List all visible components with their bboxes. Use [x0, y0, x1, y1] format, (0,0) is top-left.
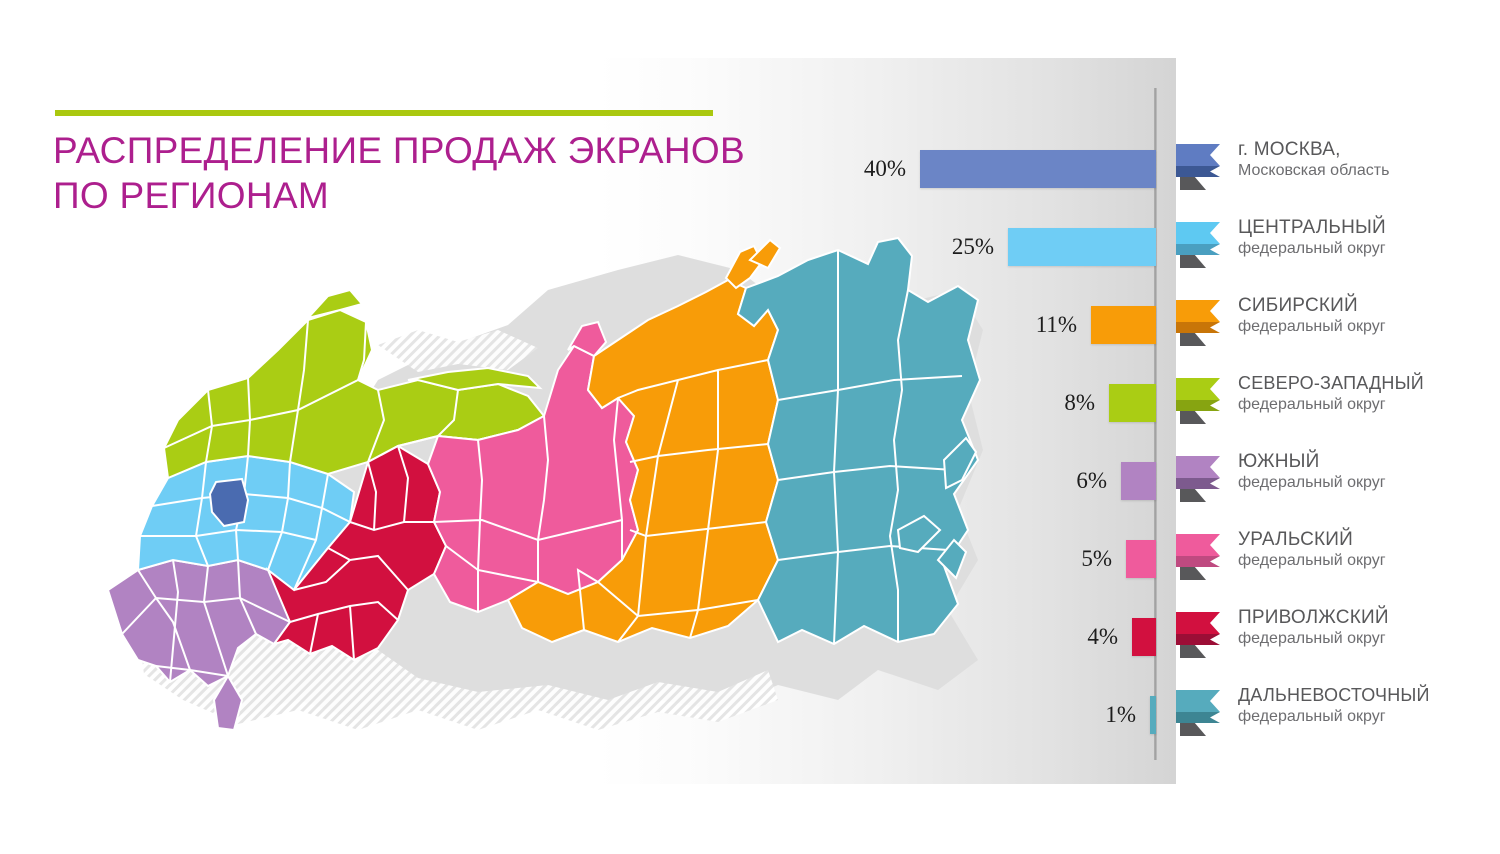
legend-district-name: ЮЖНЫЙ [1238, 450, 1496, 473]
chart-bar [920, 150, 1156, 188]
legend-ribbon-icon [1176, 300, 1230, 348]
legend-district-subtitle: федеральный округ [1238, 395, 1496, 415]
legend-district-subtitle: федеральный округ [1238, 317, 1496, 337]
legend-label-group: СИБИРСКИЙфедеральный округ [1238, 294, 1496, 337]
legend-district-subtitle: Московская область [1238, 161, 1496, 181]
legend-label-group: ПРИВОЛЖСКИЙфедеральный округ [1238, 606, 1496, 649]
legend-district-subtitle: федеральный округ [1238, 551, 1496, 571]
legend-ribbon-icon [1176, 534, 1230, 582]
legend-ribbon-icon [1176, 456, 1230, 504]
legend-label-group: СЕВЕРО-ЗАПАДНЫЙфедеральный округ [1238, 372, 1496, 415]
legend-district-subtitle: федеральный округ [1238, 707, 1496, 727]
legend-ribbon-icon [1176, 690, 1230, 738]
legend-district-name: УРАЛЬСКИЙ [1238, 528, 1496, 551]
legend-district-name: г. МОСКВА, [1238, 138, 1496, 161]
legend-district-name: ДАЛЬНЕВОСТОЧНЫЙ [1238, 684, 1496, 707]
legend-item[interactable]: СИБИРСКИЙфедеральный округ [1176, 294, 1496, 364]
chart-bar [1109, 384, 1156, 422]
legend-item[interactable]: ЦЕНТРАЛЬНЫЙфедеральный округ [1176, 216, 1496, 286]
legend-district-subtitle: федеральный округ [1238, 629, 1496, 649]
chart-bar [1150, 696, 1156, 734]
legend-label-group: ЦЕНТРАЛЬНЫЙфедеральный округ [1238, 216, 1496, 259]
chart-bar-value-label: 1% [1026, 700, 1136, 730]
chart-bar-value-label: 5% [1002, 544, 1112, 574]
legend-item[interactable]: г. МОСКВА,Московская область [1176, 138, 1496, 208]
legend-district-name: СИБИРСКИЙ [1238, 294, 1496, 317]
legend-district-name: ПРИВОЛЖСКИЙ [1238, 606, 1496, 629]
chart-bar-value-label: 4% [1008, 622, 1118, 652]
title-accent-line [55, 110, 713, 116]
chart-bar-value-label: 11% [967, 310, 1077, 340]
legend-item[interactable]: ЮЖНЫЙфедеральный округ [1176, 450, 1496, 520]
chart-bar-value-label: 8% [985, 388, 1095, 418]
chart-bar [1132, 618, 1156, 656]
legend-label-group: ДАЛЬНЕВОСТОЧНЫЙфедеральный округ [1238, 684, 1496, 727]
chart-bar [1121, 462, 1156, 500]
legend-ribbon-icon [1176, 378, 1230, 426]
chart-bar [1126, 540, 1156, 578]
chart-bar [1091, 306, 1156, 344]
chart-bar [1008, 228, 1156, 266]
legend-ribbon-icon [1176, 222, 1230, 270]
legend-item[interactable]: СЕВЕРО-ЗАПАДНЫЙфедеральный округ [1176, 372, 1496, 442]
legend-district-name: СЕВЕРО-ЗАПАДНЫЙ [1238, 372, 1496, 395]
legend-item[interactable]: ПРИВОЛЖСКИЙфедеральный округ [1176, 606, 1496, 676]
legend-district-subtitle: федеральный округ [1238, 473, 1496, 493]
chart-bar-value-label: 25% [884, 232, 994, 262]
legend-label-group: ЮЖНЫЙфедеральный округ [1238, 450, 1496, 493]
legend-district-subtitle: федеральный округ [1238, 239, 1496, 259]
legend-item[interactable]: УРАЛЬСКИЙфедеральный округ [1176, 528, 1496, 598]
legend-label-group: г. МОСКВА,Московская область [1238, 138, 1496, 181]
legend-item[interactable]: ДАЛЬНЕВОСТОЧНЫЙфедеральный округ [1176, 684, 1496, 754]
chart-bar-value-label: 40% [796, 154, 906, 184]
legend-label-group: УРАЛЬСКИЙфедеральный округ [1238, 528, 1496, 571]
infographic-slide: РАСПРЕДЕЛЕНИЕ ПРОДАЖ ЭКРАНОВ ПО РЕГИОНАМ [0, 0, 1500, 854]
legend-ribbon-icon [1176, 612, 1230, 660]
legend-ribbon-icon [1176, 144, 1230, 192]
legend-district-name: ЦЕНТРАЛЬНЫЙ [1238, 216, 1496, 239]
chart-bar-value-label: 6% [997, 466, 1107, 496]
